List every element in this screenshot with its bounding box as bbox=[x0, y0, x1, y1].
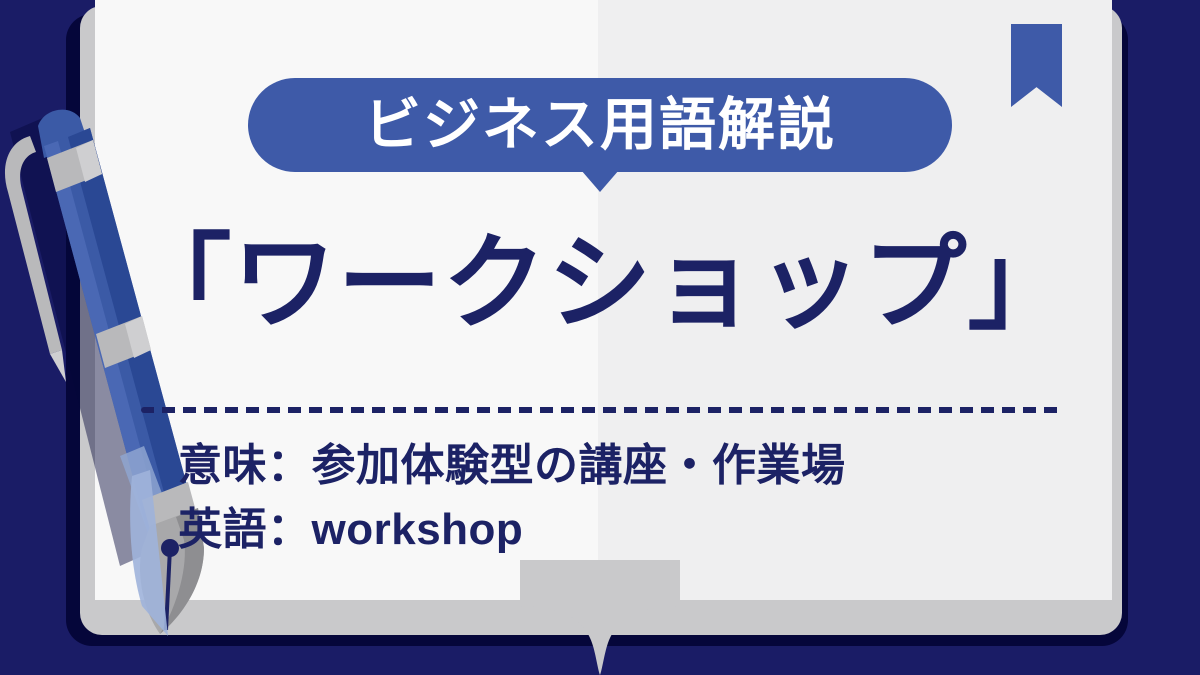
category-badge-label: ビジネス用語解説 bbox=[364, 97, 836, 154]
category-badge-pointer-icon bbox=[581, 170, 619, 192]
category-badge: ビジネス用語解説 bbox=[248, 78, 952, 172]
definition-block: 意味：参加体験型の講座・作業場 英語：workshop bbox=[178, 434, 846, 562]
book-gutter-crease bbox=[520, 560, 680, 675]
definition-meaning-line: 意味：参加体験型の講座・作業場 bbox=[178, 434, 846, 498]
page-title: 「ワークショップ」 bbox=[0, 222, 1200, 347]
divider bbox=[141, 407, 1065, 413]
definition-english-line: 英語：workshop bbox=[178, 498, 846, 562]
slide-canvas: ビジネス用語解説 「ワークショップ」 意味：参加体験型の講座・作業場 英語：wo… bbox=[0, 0, 1200, 675]
